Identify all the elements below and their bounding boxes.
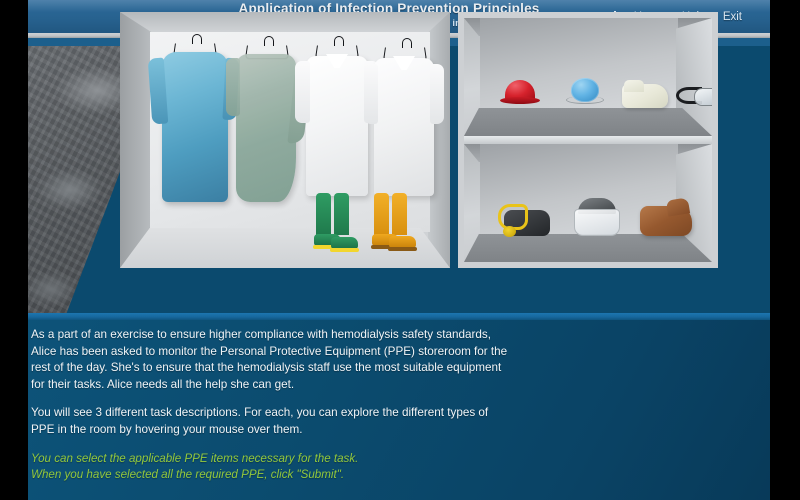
closet-interior <box>120 12 450 268</box>
ppe-shelving-unit[interactable] <box>458 12 718 268</box>
face-shield[interactable] <box>572 198 622 236</box>
brown-leather-gloves[interactable] <box>640 206 692 236</box>
green-isolation-gown[interactable] <box>236 54 296 202</box>
panel-text-column: As a part of an exercise to ensure highe… <box>31 327 511 483</box>
red-hard-hat[interactable] <box>500 80 540 106</box>
shelf-surface <box>464 234 712 262</box>
blue-surgical-gown[interactable] <box>162 52 228 202</box>
screen-root: Application of Infection Prevention Prin… <box>0 0 800 500</box>
coat-collar <box>326 54 348 68</box>
shelf-surface <box>464 108 712 136</box>
content-canvas: Application of Infection Prevention Prin… <box>28 0 770 500</box>
blue-n95-mask[interactable] <box>568 78 602 106</box>
nav-exit-link[interactable]: Exit <box>723 11 742 23</box>
instruction-panel-content: As a part of an exercise to ensure highe… <box>28 313 770 500</box>
intro-paragraph-2: You will see 3 different task descriptio… <box>31 405 511 438</box>
hanging-ppe-closet[interactable] <box>120 12 450 268</box>
white-lab-coat-2[interactable] <box>374 58 434 196</box>
white-lab-coat-1[interactable] <box>306 56 368 196</box>
safety-goggles[interactable] <box>676 82 712 108</box>
instruction-line-1: You can select the applicable PPE items … <box>31 451 511 467</box>
shelf-bottom <box>464 144 712 262</box>
yellow-black-respirator[interactable] <box>498 202 552 236</box>
closet-ceiling <box>120 12 450 34</box>
green-rubber-boots[interactable] <box>314 188 360 246</box>
closet-left-wall <box>120 12 152 268</box>
white-exam-gloves[interactable] <box>622 84 668 108</box>
shelf-divider <box>464 136 712 144</box>
shelf-top <box>464 18 712 136</box>
intro-paragraph-1: As a part of an exercise to ensure highe… <box>31 327 511 393</box>
coat-collar <box>393 56 415 70</box>
yellow-rubber-boots[interactable] <box>372 188 418 246</box>
instruction-line-2: When you have selected all the required … <box>31 467 511 483</box>
